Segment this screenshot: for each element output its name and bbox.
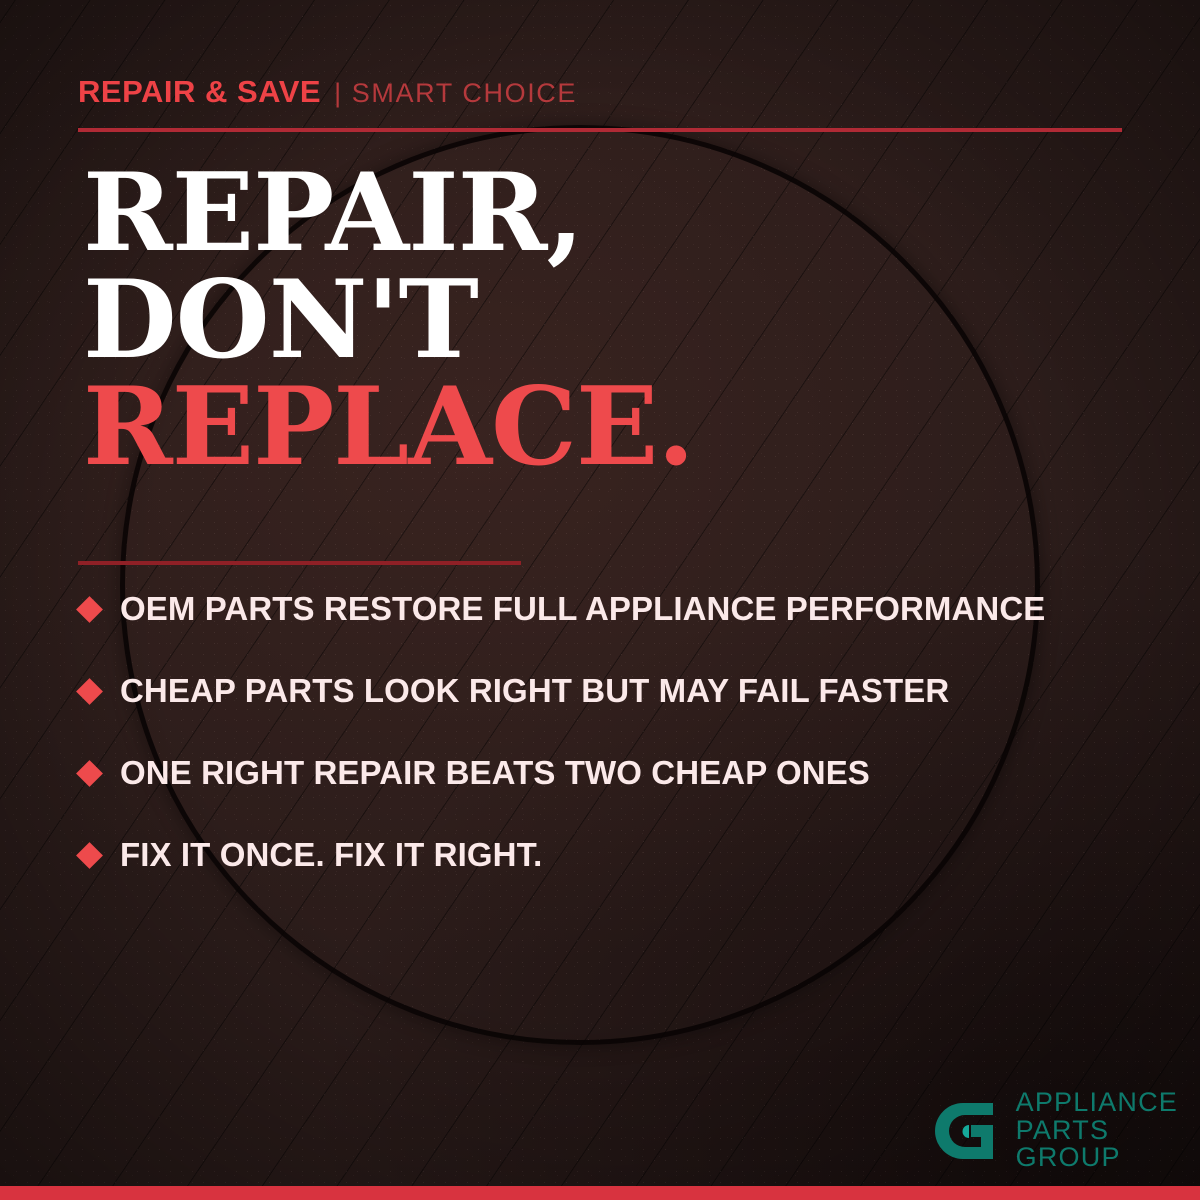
headline-line-3-accent: REPLACE.	[83, 374, 694, 481]
list-item: OEM PARTS RESTORE FULL APPLIANCE PERFORM…	[80, 588, 1150, 630]
list-item: ONE RIGHT REPAIR BEATS TWO CHEAP ONES	[80, 752, 1150, 794]
list-item-label: OEM PARTS RESTORE FULL APPLIANCE PERFORM…	[120, 590, 1045, 628]
diamond-bullet-icon	[76, 596, 103, 623]
brand-wordmark-line-1: APPLIANCE	[1016, 1089, 1178, 1117]
headline-underline-rule	[78, 561, 521, 565]
list-item: CHEAP PARTS LOOK RIGHT BUT MAY FAIL FAST…	[80, 670, 1150, 712]
list-item-label: CHEAP PARTS LOOK RIGHT BUT MAY FAIL FAST…	[120, 672, 949, 710]
diamond-bullet-icon	[76, 842, 103, 869]
brand-wordmark-line-2: PARTS	[1016, 1117, 1178, 1145]
header-divider-rule	[78, 128, 1122, 132]
list-item-label: FIX IT ONCE. FIX IT RIGHT.	[120, 836, 542, 874]
poster-content: REPAIR & SAVE | SMART CHOICE REPAIR, DON…	[0, 0, 1200, 1200]
brand-wordmark: APPLIANCE PARTS GROUP	[1016, 1089, 1178, 1172]
headline-line-1: REPAIR,	[83, 160, 694, 267]
bottom-accent-bar	[0, 1186, 1200, 1200]
headline-line-2: DON'T	[83, 267, 694, 374]
headline: REPAIR, DON'T REPLACE.	[83, 160, 694, 481]
brand-logo: APPLIANCE PARTS GROUP	[933, 1089, 1178, 1172]
eyebrow: REPAIR & SAVE | SMART CHOICE	[78, 74, 577, 110]
promo-poster: REPAIR & SAVE | SMART CHOICE REPAIR, DON…	[0, 0, 1200, 1200]
diamond-bullet-icon	[76, 760, 103, 787]
eyebrow-main-label: REPAIR & SAVE	[78, 74, 321, 110]
diamond-bullet-icon	[76, 678, 103, 705]
brand-wordmark-line-3: GROUP	[1016, 1144, 1178, 1172]
benefits-list: OEM PARTS RESTORE FULL APPLIANCE PERFORM…	[80, 588, 1150, 876]
list-item-label: ONE RIGHT REPAIR BEATS TWO CHEAP ONES	[120, 754, 870, 792]
appliance-parts-group-g-icon	[933, 1095, 1005, 1167]
list-item: FIX IT ONCE. FIX IT RIGHT.	[80, 834, 1150, 876]
eyebrow-sub-label: | SMART CHOICE	[334, 78, 577, 109]
